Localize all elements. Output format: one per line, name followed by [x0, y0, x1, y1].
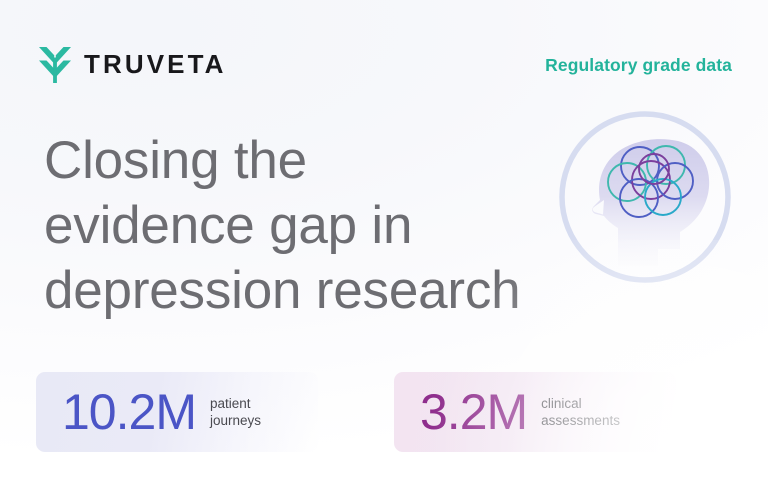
stat-card-clinical-assessments: 3.2M clinical assessments [394, 372, 676, 452]
truveta-leaf-icon [38, 44, 72, 84]
stat-value: 3.2M [394, 387, 527, 437]
stat-label-line-1: patient [210, 395, 261, 412]
stat-value: 10.2M [36, 387, 196, 437]
page-title: Closing the evidence gap in depression r… [44, 128, 604, 323]
brain-head-circles-icon [556, 108, 734, 286]
header: TRUVETA Regulatory grade data [0, 0, 768, 108]
truveta-logo-lockup[interactable]: TRUVETA [38, 44, 227, 84]
stat-label-line-2: journeys [210, 412, 261, 429]
slide-canvas: TRUVETA Regulatory grade data Closing th… [0, 0, 768, 480]
head-silhouette [592, 139, 709, 266]
stat-label-line-2: assessments [541, 412, 620, 429]
stat-label: patient journeys [210, 395, 261, 429]
headline-line-3: depression research [44, 258, 604, 323]
stats-row: 10.2M patient journeys 3.2M clinical ass… [0, 372, 768, 458]
tagline-regulatory-grade-data: Regulatory grade data [545, 55, 732, 76]
truveta-wordmark: TRUVETA [84, 51, 227, 77]
headline-line-2: evidence gap in [44, 193, 604, 258]
stat-label-line-1: clinical [541, 395, 620, 412]
headline-line-1: Closing the [44, 128, 604, 193]
stat-card-patient-journeys: 10.2M patient journeys [36, 372, 318, 452]
stat-label: clinical assessments [541, 395, 620, 429]
